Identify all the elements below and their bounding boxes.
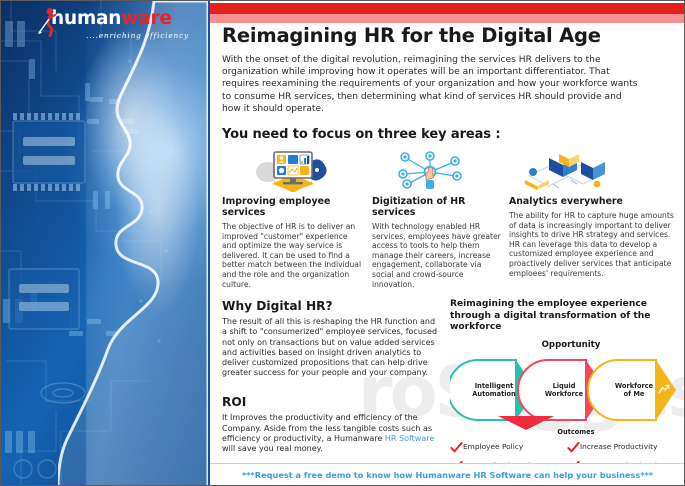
roi-heading: ROI — [222, 395, 440, 409]
key-area-card-1: Improving employee services The objectiv… — [222, 148, 372, 289]
brand-logo[interactable]: humanware ....enriching efficiency — [37, 9, 197, 49]
network-touch-icon — [372, 148, 501, 192]
footer-cta-text: ***Request a free demo to know how Human… — [242, 470, 653, 480]
content-body: Reimagining HR for the Digital Age With … — [222, 25, 682, 486]
svg-text:Workforce: Workforce — [545, 390, 584, 398]
why-digital-body: The result of all this is reshaping the … — [222, 317, 440, 378]
intro-paragraph: With the onset of the digital revolution… — [222, 54, 642, 115]
roi-body: It Improves the productivity and efficie… — [222, 413, 440, 454]
footer-cta-bar[interactable]: ***Request a free demo to know how Human… — [210, 463, 685, 486]
hr-software-link[interactable]: HR Software — [385, 434, 434, 443]
key-area-card-2: Digitization of HR services With technol… — [372, 148, 509, 289]
dashboard-analytics-icon — [222, 148, 364, 192]
lower-section: Why Digital HR? The result of all this i… — [222, 299, 684, 486]
list-item: Employee Policy — [450, 442, 567, 453]
brochure-page: humanware ....enriching efficiency roSug… — [0, 0, 685, 486]
reimagining-column: Reimagining the employee experience thro… — [450, 299, 684, 486]
opportunity-label: Opportunity — [450, 340, 684, 350]
key-area-body: The ability for HR to capture huge amoun… — [509, 211, 682, 278]
key-area-body: With technology enabled HR services, emp… — [372, 222, 501, 289]
key-area-card-3: Analytics everywhere The ability for HR … — [509, 148, 682, 289]
brand-name-human: human — [51, 8, 121, 29]
svg-text:Liquid: Liquid — [553, 382, 576, 390]
key-area-title: Analytics everywhere — [509, 196, 682, 207]
top-accent-bar-pink — [208, 14, 685, 23]
why-digital-column: Why Digital HR? The result of all this i… — [222, 299, 450, 486]
top-accent-bar-red — [208, 3, 685, 14]
data-charts-icon — [509, 148, 682, 192]
left-hero-image: humanware ....enriching efficiency — [1, 1, 208, 486]
list-item: Increase Productivity — [567, 442, 684, 453]
brand-name-ware: ware — [121, 8, 171, 29]
why-digital-heading: Why Digital HR? — [222, 299, 440, 313]
check-mark-icon — [567, 442, 580, 453]
roi-body-after: will save you real money. — [222, 444, 323, 453]
key-areas-row: Improving employee services The objectiv… — [222, 148, 682, 289]
key-area-title: Improving employee services — [222, 196, 364, 218]
focus-heading: You need to focus on three key areas : — [222, 127, 682, 142]
svg-text:Intelligent: Intelligent — [475, 382, 514, 390]
outcomes-arrow — [498, 416, 554, 430]
benefit-text: Increase Productivity — [580, 442, 657, 451]
benefit-text: Employee Policy — [463, 442, 523, 451]
brand-tagline: ....enriching efficiency — [37, 31, 189, 40]
opportunity-chevron-diagram: Intelligent Automation — [450, 352, 684, 430]
svg-text:Workforce: Workforce — [615, 382, 654, 390]
svg-text:of Me: of Me — [624, 390, 645, 398]
check-mark-icon — [450, 442, 463, 453]
content-panel: roSuggest.com Reimagining HR for the Dig… — [208, 1, 685, 486]
key-area-title: Digitization of HR services — [372, 196, 501, 218]
face-glow — [98, 61, 208, 361]
brand-name: humanware — [51, 9, 197, 29]
page-title: Reimagining HR for the Digital Age — [222, 25, 682, 47]
reimagining-heading: Reimagining the employee experience thro… — [450, 299, 684, 334]
svg-text:Automation: Automation — [472, 390, 516, 398]
running-man-icon — [37, 7, 59, 37]
left-blue-edge — [208, 1, 210, 486]
key-area-body: The objective of HR is to deliver an imp… — [222, 222, 364, 289]
diagram-stage-3: Workforce of Me — [588, 360, 676, 420]
